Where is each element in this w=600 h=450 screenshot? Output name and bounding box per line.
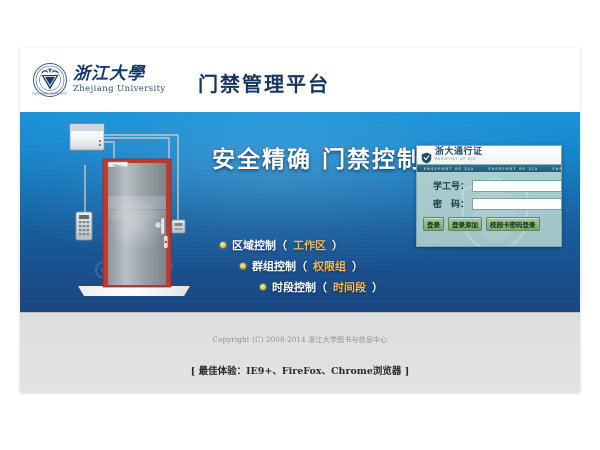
- login-panel-header: 浙大通行证 PASSPORT OF ZJU: [417, 146, 561, 165]
- yellow-dot-icon: [240, 263, 246, 269]
- student-staff-id-field[interactable]: [472, 180, 562, 192]
- bullet-highlight: 时间段: [333, 279, 366, 295]
- strip-text: PASSPORT OF ZJU: [417, 167, 481, 171]
- list-item: 区域控制（工作区）: [220, 237, 383, 253]
- access-control-door-illustration: [54, 118, 214, 308]
- list-item: 时段控制（时间段）: [260, 279, 383, 295]
- form-row: 密 码：: [423, 197, 555, 210]
- feature-bullet-list: 区域控制（工作区） 群组控制（权限组） 时段控制（时间段）: [220, 237, 383, 295]
- site-footer: Copyright (C) 2008-2014 浙江大学图书与信息中心 [ 最佳…: [20, 312, 580, 392]
- bullet-tail: ）: [372, 279, 383, 295]
- login-panel-subtitle: PASSPORT OF ZJU: [435, 158, 483, 162]
- university-name-cn: 浙江大學: [73, 66, 166, 83]
- password-label: 密 码：: [423, 197, 472, 210]
- browser-recommendation-text: [ 最佳体验：IE9+、FireFox、Chrome浏览器 ]: [20, 363, 580, 377]
- zju-seal-icon: ZHEJIANG UNIVERSITY: [32, 62, 68, 98]
- passport-pattern-strip: PASSPORT OF ZJU PASSPORT OF ZJU PASSPORT…: [417, 165, 561, 172]
- password-field[interactable]: [472, 198, 562, 210]
- login-add-button[interactable]: 登录添加: [448, 217, 482, 231]
- login-form: 学工号： 密 码：: [417, 172, 561, 210]
- yellow-dot-icon: [260, 284, 266, 290]
- bullet-text: 群组控制（: [252, 258, 307, 274]
- hero-banner: 安全精确 门禁控制 区域控制（工作区） 群组控制（权限组） 时段控制（时间段）: [20, 112, 580, 312]
- login-panel: 浙大通行证 PASSPORT OF ZJU PASSPORT OF ZJU PA…: [416, 145, 562, 247]
- login-button-row: 登录 登录添加 校园卡密码登录: [417, 215, 561, 231]
- form-row: 学工号：: [423, 179, 555, 192]
- svg-text:ZHEJIANG UNIVERSITY: ZHEJIANG UNIVERSITY: [32, 93, 68, 96]
- page-title: 门禁管理平台: [198, 68, 330, 97]
- shield-icon: [421, 149, 432, 161]
- university-logo[interactable]: ZHEJIANG UNIVERSITY 浙江大學 Zhejiang Univer…: [32, 62, 166, 98]
- bullet-text: 时段控制（: [272, 279, 327, 295]
- login-panel-title: 浙大通行证: [435, 148, 483, 157]
- copyright-text: Copyright (C) 2008-2014 浙江大学图书与信息中心: [20, 335, 580, 345]
- university-wordmark: 浙江大學 Zhejiang University: [73, 66, 166, 94]
- login-button[interactable]: 登录: [423, 217, 444, 231]
- bullet-highlight: 工作区: [293, 237, 326, 253]
- page-container: ZHEJIANG UNIVERSITY 浙江大學 Zhejiang Univer…: [20, 48, 580, 392]
- strip-text: PASSPORT OF ZJU: [545, 167, 561, 171]
- list-item: 群组控制（权限组）: [240, 258, 383, 274]
- bullet-text: 区域控制（: [232, 237, 287, 253]
- bullet-tail: ）: [332, 237, 343, 253]
- banner-headline: 安全精确 门禁控制: [212, 140, 422, 174]
- strip-text: PASSPORT OF ZJU: [481, 167, 545, 171]
- bullet-tail: ）: [352, 258, 363, 274]
- yellow-dot-icon: [220, 242, 226, 248]
- student-staff-id-label: 学工号：: [423, 179, 472, 192]
- bullet-highlight: 权限组: [313, 258, 346, 274]
- campus-card-login-button[interactable]: 校园卡密码登录: [486, 217, 540, 231]
- university-name-en: Zhejiang University: [73, 85, 166, 94]
- site-header: ZHEJIANG UNIVERSITY 浙江大學 Zhejiang Univer…: [20, 48, 580, 113]
